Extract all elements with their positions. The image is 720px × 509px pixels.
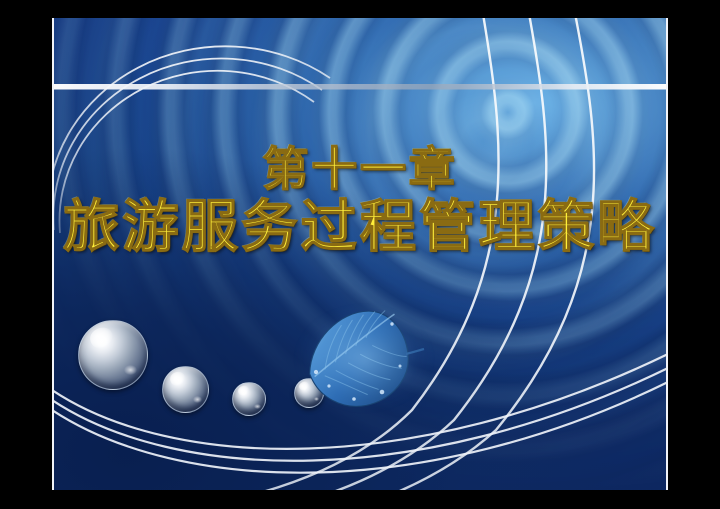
chrome-sphere-medium (162, 366, 209, 413)
slide-border-right (666, 18, 668, 490)
presentation-slide[interactable]: 第十一章 旅游服务过程管理策略 (52, 18, 668, 490)
leaf-glow (282, 294, 440, 428)
slide-title-line-1: 第十一章 (52, 146, 668, 193)
screenshot-stage: 第十一章 旅游服务过程管理策略 (0, 0, 720, 509)
blue-leaf-graphic (296, 306, 426, 416)
chrome-sphere-small (232, 382, 266, 416)
slide-border-left (52, 18, 54, 490)
slide-title-block: 第十一章 旅游服务过程管理策略 (52, 146, 668, 256)
chrome-sphere-large (78, 320, 148, 390)
slide-title-line-2: 旅游服务过程管理策略 (52, 199, 668, 256)
